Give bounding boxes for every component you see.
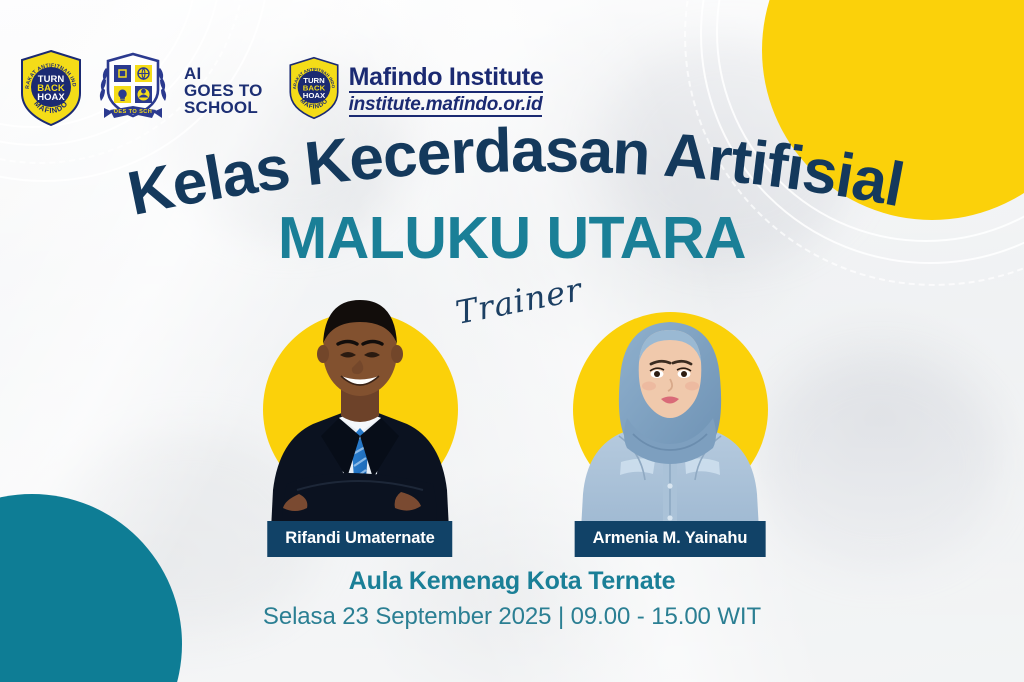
trainer-card-1: Rifandi Umaternate	[235, 278, 485, 528]
ai-line-2: GOES TO	[184, 82, 263, 99]
trainer-name-badge: Rifandi Umaternate	[267, 521, 452, 557]
turn-back-hoax-logo: TURN BACK HOAX MASYARAKAT ANTIFITNAH IND…	[18, 49, 84, 132]
mafindo-institute-lockup: TURN BACK HOAX MASYARAKAT ANTIFITNAH IND…	[287, 56, 544, 125]
institute-name: Mafindo Institute	[349, 64, 544, 94]
ai-goes-to-school-wordmark: AI GOES TO SCHOOL	[184, 65, 263, 117]
trainer-portrait-male	[235, 278, 485, 533]
institute-text-block: Mafindo Institute institute.mafindo.or.i…	[349, 64, 544, 118]
ai-goes-to-school-logo: AI GOES TO SCHOOL	[94, 48, 172, 133]
trainer-card-2: Armenia M. Yainahu	[545, 278, 795, 528]
poster-canvas: TURN BACK HOAX MASYARAKAT ANTIFITNAH IND…	[0, 0, 1024, 682]
venue-text: Aula Kemenag Kota Ternate	[0, 567, 1024, 596]
institute-logo-hoax: HOAX	[302, 91, 325, 100]
trainer-photo-2	[545, 278, 795, 528]
bg-blur-shape	[760, 360, 1000, 570]
trainer-portrait-female	[545, 278, 795, 533]
ai-line-3: SCHOOL	[184, 99, 263, 116]
mafindo-institute-shield-icon: TURN BACK HOAX MASYARAKAT ANTIFITNAH IND…	[287, 56, 341, 125]
datetime-text: Selasa 23 September 2025 | 09.00 - 15.00…	[0, 603, 1024, 631]
institute-url: institute.mafindo.or.id	[349, 95, 543, 117]
trainer-photo-1	[235, 278, 485, 528]
trainer-name-badge: Armenia M. Yainahu	[575, 521, 766, 557]
ai-line-1: AI	[184, 65, 263, 82]
subtitle: MALUKU UTARA	[0, 204, 1024, 272]
